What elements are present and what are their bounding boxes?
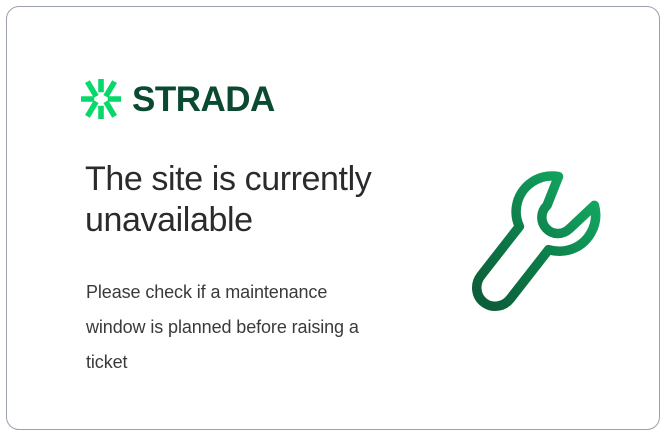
maintenance-illustration bbox=[465, 164, 617, 314]
page-title: The site is currently unavailable bbox=[85, 159, 415, 241]
status-card: STRADA The site is currently unavailable… bbox=[6, 6, 660, 430]
wrench-icon bbox=[465, 164, 617, 314]
strada-asterisk-icon bbox=[81, 79, 121, 119]
brand-logo-lockup: STRADA bbox=[81, 77, 275, 121]
brand-wordmark: STRADA bbox=[132, 82, 275, 117]
error-page: STRADA The site is currently unavailable… bbox=[0, 0, 666, 436]
page-description: Please check if a maintenance window is … bbox=[86, 275, 386, 380]
